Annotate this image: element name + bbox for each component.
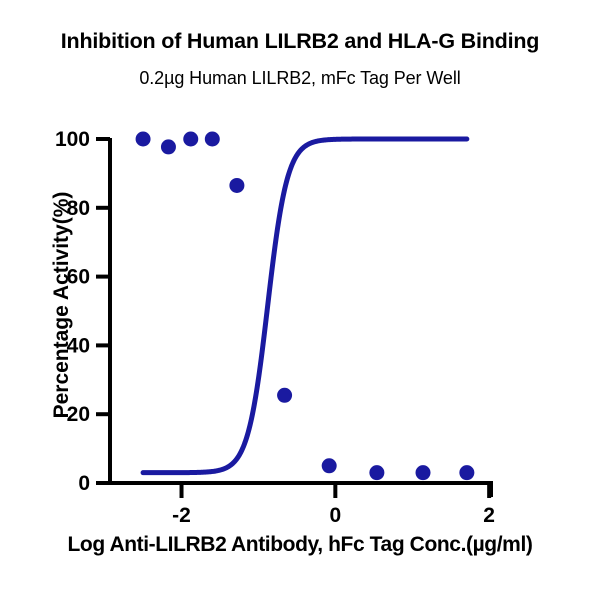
data-point <box>369 465 384 480</box>
data-point <box>136 132 151 147</box>
chart-figure: Inhibition of Human LILRB2 and HLA-G Bin… <box>0 0 600 600</box>
data-point <box>416 465 431 480</box>
data-point <box>322 458 337 473</box>
y-tick-label: 60 <box>67 266 90 289</box>
data-point <box>459 465 474 480</box>
data-point <box>277 388 292 403</box>
y-tick-label: 80 <box>67 197 90 220</box>
x-tick-label: 0 <box>329 504 341 527</box>
y-tick-label: 20 <box>67 403 90 426</box>
axes <box>108 138 493 497</box>
y-tick-label: 0 <box>78 472 90 495</box>
y-tick-label: 40 <box>67 334 90 357</box>
data-point <box>183 132 198 147</box>
y-tick-label: 100 <box>55 128 90 151</box>
x-tick-label: -2 <box>172 504 191 527</box>
data-point <box>229 178 244 193</box>
x-axis-ticks: -202 <box>172 483 495 527</box>
plot-area: 020406080100 -202 <box>0 0 600 600</box>
x-tick-label: 2 <box>483 504 495 527</box>
fit-curve <box>143 139 467 473</box>
data-point <box>161 139 176 154</box>
data-points <box>136 132 475 481</box>
y-axis-ticks: 020406080100 <box>55 128 110 495</box>
sigmoid-curve <box>143 139 467 473</box>
data-point <box>205 132 220 147</box>
